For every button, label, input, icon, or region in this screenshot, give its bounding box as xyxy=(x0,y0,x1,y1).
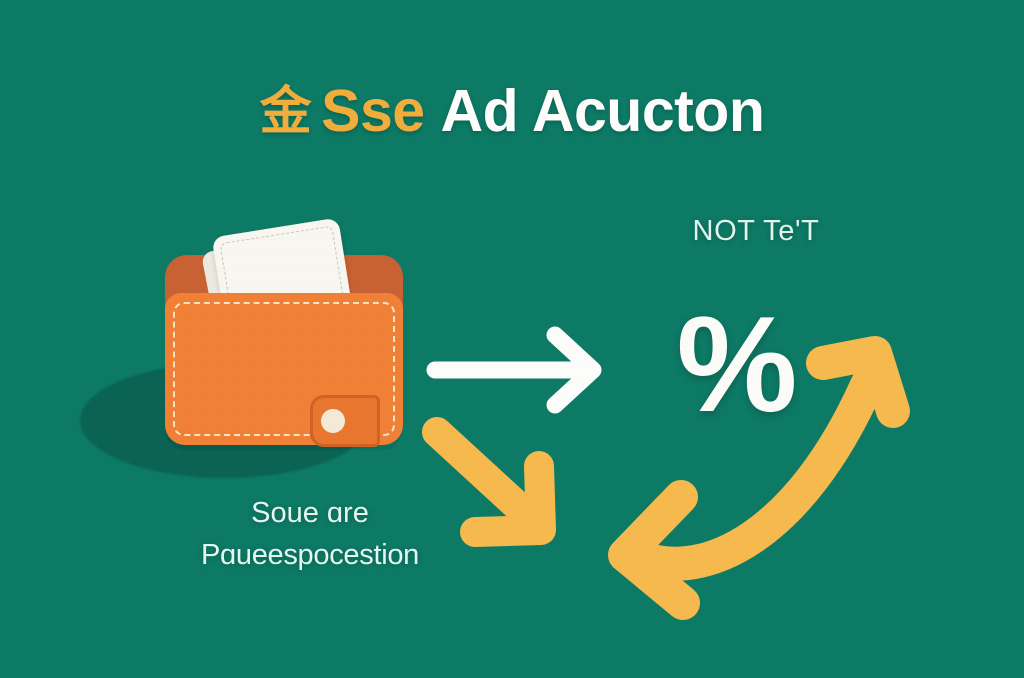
source-caption-line2: Pɑueespocestion xyxy=(145,534,475,576)
wallet-illustration xyxy=(70,225,450,490)
source-caption-line1: Soue ɑre xyxy=(251,497,369,529)
title-gold-word: Sse xyxy=(321,78,424,144)
infographic-canvas: 金Sse Ad Acucton % N xyxy=(0,0,1024,678)
wallet-button-icon xyxy=(321,409,345,433)
percent-icon: % xyxy=(660,296,810,432)
kanji-gold-character: 金 xyxy=(260,83,312,141)
title-white-words: Ad Acucton xyxy=(425,78,765,144)
not-text-label: NOT Te'T xyxy=(656,215,856,248)
page-title: 金Sse Ad Acucton xyxy=(0,82,1024,141)
source-caption: Soue ɑre Pɑueespocestion xyxy=(145,492,475,576)
